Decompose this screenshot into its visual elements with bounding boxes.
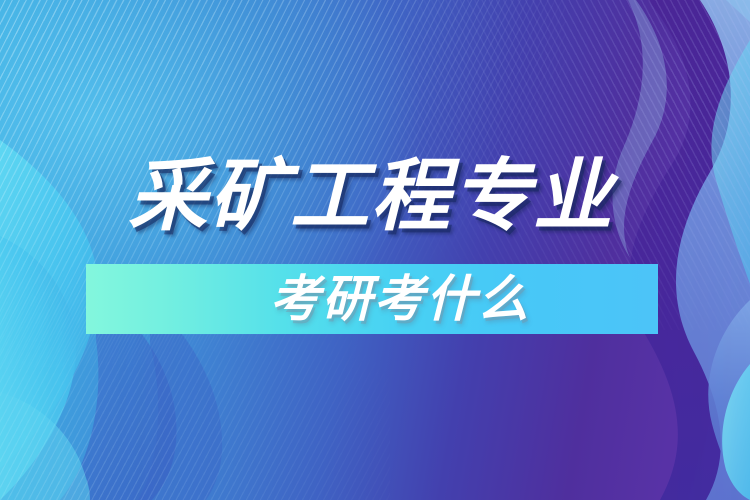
page-title: 采矿工程专业 [128, 155, 614, 237]
subtitle-text: 考研考什么 [214, 274, 530, 324]
poster-banner: 采矿工程专业 考研考什么 [0, 0, 750, 500]
subtitle-banner: 考研考什么 [86, 264, 658, 334]
title-block: 采矿工程专业 [0, 155, 750, 237]
